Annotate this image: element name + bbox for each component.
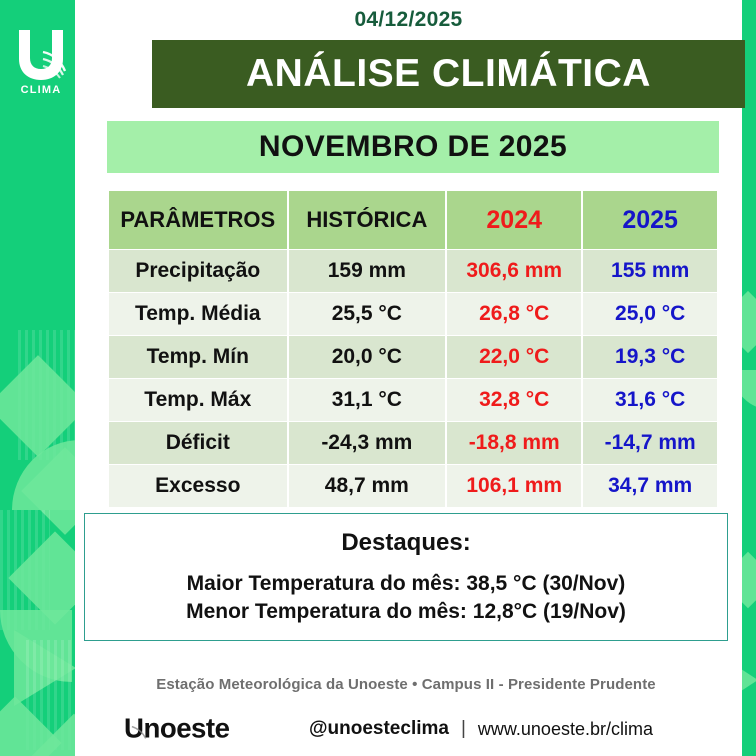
cell-historica: -24,3 mm	[289, 422, 446, 464]
unoeste-wordmark-icon: Unoeste	[124, 711, 272, 747]
right-decorative-strip	[742, 0, 756, 756]
cell-2024: 32,8 °C	[447, 379, 581, 421]
cell-2024: 26,8 °C	[447, 293, 581, 335]
footer-row: Unoeste @unoesteclima | www.unoeste.br/c…	[84, 706, 728, 752]
quarter-circle-r1	[742, 370, 756, 410]
cell-2024: 306,6 mm	[447, 250, 581, 292]
footer-links: @unoesteclima | www.unoeste.br/clima	[274, 718, 688, 740]
destaques-line-max: Maior Temperatura do mês: 38,5 °C (30/No…	[187, 570, 626, 598]
cell-2025: -14,7 mm	[583, 422, 717, 464]
row-param-label: Temp. Média	[109, 293, 287, 335]
cell-historica: 20,0 °C	[289, 336, 446, 378]
cell-2025: 31,6 °C	[583, 379, 717, 421]
cell-historica: 31,1 °C	[289, 379, 446, 421]
clima-logo: CLIMA	[10, 28, 72, 108]
row-param-label: Excesso	[109, 465, 287, 507]
left-decorative-strip	[0, 0, 75, 756]
column-header-2024: 2024	[447, 191, 581, 249]
cell-2024: 22,0 °C	[447, 336, 581, 378]
cell-historica: 159 mm	[289, 250, 446, 292]
cell-historica: 48,7 mm	[289, 465, 446, 507]
report-date: 04/12/2025	[354, 8, 462, 32]
cell-2025: 19,3 °C	[583, 336, 717, 378]
social-handle[interactable]: @unoesteclima	[309, 718, 449, 740]
row-param-label: Temp. Máx	[109, 379, 287, 421]
month-banner: NOVEMBRO DE 2025	[107, 121, 719, 173]
footer-separator: |	[461, 718, 466, 740]
cell-2025: 155 mm	[583, 250, 717, 292]
cell-2025: 34,7 mm	[583, 465, 717, 507]
table-row: Excesso 48,7 mm 106,1 mm 34,7 mm	[109, 465, 717, 507]
cell-2024: 106,1 mm	[447, 465, 581, 507]
cell-2025: 25,0 °C	[583, 293, 717, 335]
destaques-panel: Destaques: Maior Temperatura do mês: 38,…	[84, 513, 728, 641]
table-header-row: PARÂMETROS HISTÓRICA 2024 2025	[109, 191, 717, 249]
row-param-label: Temp. Mín	[109, 336, 287, 378]
destaques-line-min: Menor Temperatura do mês: 12,8°C (19/Nov…	[186, 598, 626, 626]
column-header-parametros: PARÂMETROS	[109, 191, 287, 249]
destaques-heading: Destaques:	[341, 529, 470, 557]
table-row: Temp. Máx 31,1 °C 32,8 °C 31,6 °C	[109, 379, 717, 421]
table-row: Precipitação 159 mm 306,6 mm 155 mm	[109, 250, 717, 292]
column-header-historica: HISTÓRICA	[289, 191, 446, 249]
diamond-shape-r1	[742, 291, 756, 353]
climate-table: PARÂMETROS HISTÓRICA 2024 2025 Precipita…	[107, 190, 719, 508]
cell-historica: 25,5 °C	[289, 293, 446, 335]
table-row: Temp. Média 25,5 °C 26,8 °C 25,0 °C	[109, 293, 717, 335]
page-title: ANÁLISE CLIMÁTICA	[246, 52, 651, 96]
unoeste-logo: Unoeste	[124, 711, 274, 747]
footer-station-text: Estação Meteorológica da Unoeste • Campu…	[84, 676, 728, 693]
clima-logo-label: CLIMA	[21, 84, 62, 96]
cell-2024: -18,8 mm	[447, 422, 581, 464]
row-param-label: Déficit	[109, 422, 287, 464]
row-param-label: Precipitação	[109, 250, 287, 292]
title-banner: ANÁLISE CLIMÁTICA	[152, 40, 745, 108]
column-header-2025: 2025	[583, 191, 717, 249]
date-bar: 04/12/2025	[75, 0, 742, 40]
website-link[interactable]: www.unoeste.br/clima	[478, 719, 653, 740]
climate-table-wrapper: PARÂMETROS HISTÓRICA 2024 2025 Precipita…	[107, 190, 719, 508]
month-label: NOVEMBRO DE 2025	[259, 130, 567, 164]
svg-text:Unoeste: Unoeste	[124, 712, 230, 743]
table-row: Temp. Mín 20,0 °C 22,0 °C 19,3 °C	[109, 336, 717, 378]
triangle-shape-r1	[742, 650, 756, 710]
table-row: Déficit -24,3 mm -18,8 mm -14,7 mm	[109, 422, 717, 464]
diamond-shape-r2	[742, 552, 756, 609]
u-logo-icon	[13, 28, 69, 82]
